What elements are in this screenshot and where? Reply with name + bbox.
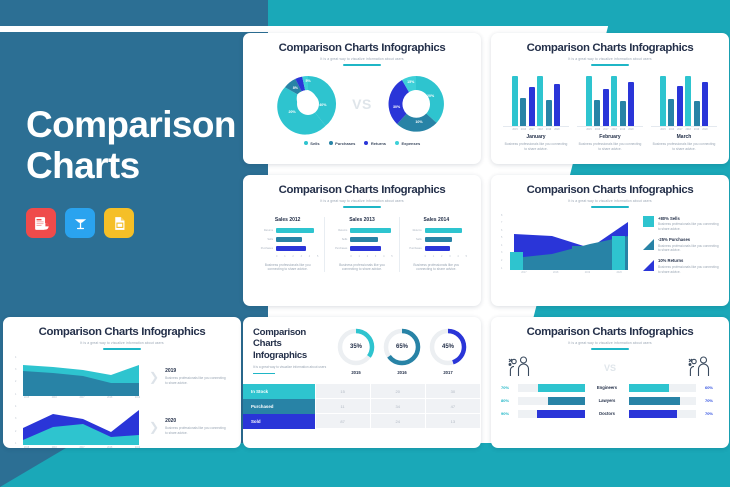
area-block-year: 2020: [165, 418, 229, 424]
bar: [603, 89, 609, 126]
area-plot: [21, 356, 143, 396]
column-title: Sales 2012: [257, 217, 318, 223]
legend-text: +80% Sells Business professionals like y…: [658, 216, 719, 232]
axis-tick-row: 0 1 2 3 4 5: [331, 255, 392, 258]
inventory-table: In Stock 15 20 30 Purchased 11 34 47 Sol…: [243, 383, 481, 429]
slide-title: Comparison Charts Infographics: [3, 326, 241, 338]
format-icon-row: [26, 208, 248, 238]
column-title: Sales 2014: [406, 217, 467, 223]
axis-tick: 2015: [24, 397, 29, 399]
hbar-row: Sells: [257, 237, 318, 243]
hbar-label: Purchases: [257, 247, 273, 250]
hbar-fill: [425, 228, 462, 234]
hbar-row: Sells: [406, 237, 467, 243]
axis-tick: 2: [15, 380, 16, 383]
progress-ring-2017: 45% 2017: [428, 327, 468, 375]
axis-tick: 8: [501, 214, 502, 217]
axis-tick: 2018: [611, 128, 617, 131]
legend-title: 10% Returns: [658, 258, 719, 263]
legend-item-sells: +80% Sells Business professionals like y…: [643, 216, 719, 232]
right-bar-fill: [629, 384, 669, 392]
ring-year: 2016: [382, 370, 422, 375]
hbar-label: Sells: [331, 238, 347, 241]
left-bar-track: [518, 410, 585, 418]
category-name: Engineers: [589, 385, 625, 390]
versus-label: VS: [352, 96, 372, 112]
bar: [660, 76, 666, 126]
legend-title: -25% Purchases: [658, 237, 719, 242]
axis-tick: 4: [457, 255, 458, 258]
slide-header: Comparison Charts Infographics It is a g…: [243, 33, 481, 66]
left-bar-fill: [548, 397, 585, 405]
donut-slice-label: 20%: [289, 110, 296, 114]
table-row[interactable]: Purchased 11 34 47: [243, 399, 481, 414]
bar-group-march: 2015 2016 2017 2018 2019 2020 March Busi…: [651, 73, 717, 152]
axis-tick: 2020: [702, 128, 708, 131]
bar: [537, 76, 543, 126]
sales-column-2012: Sales 2012 Returns Sells Purchases 0 1 2: [251, 217, 324, 273]
powerpoint-icon[interactable]: [26, 208, 56, 238]
axis-tick: 2017: [603, 128, 609, 131]
ring-year: 2017: [428, 370, 468, 375]
bar-plot: [651, 73, 717, 127]
left-percent: 90%: [501, 411, 514, 416]
bar-plot: [503, 73, 569, 127]
axis-tick: 1: [501, 267, 502, 270]
hbar-track: [276, 237, 318, 243]
axis-tick: 4: [309, 255, 310, 258]
area-block-text: 2019 Business professionals like you con…: [165, 368, 229, 386]
bar: [529, 87, 535, 126]
axis-tick: 6: [501, 229, 502, 232]
axis-tick: 3: [375, 255, 376, 258]
bar: [512, 76, 518, 126]
progress-ring-2016: 65% 2016: [382, 327, 422, 375]
hbar-fill: [276, 237, 302, 243]
legend-label: Expenses: [402, 141, 421, 146]
bar: [702, 82, 708, 125]
hbar-label: Sells: [257, 238, 273, 241]
table-cell: 11: [315, 399, 370, 414]
ring-value: 45%: [428, 344, 468, 350]
slide-subtitle: It is a great way to visualize informati…: [491, 199, 729, 203]
y-axis: 4 3 2 1: [15, 356, 16, 396]
axis-tick: 1: [15, 442, 16, 445]
axis-tick: 3: [15, 417, 16, 420]
google-slides-icon[interactable]: [104, 208, 134, 238]
legend-item: Sells: [304, 141, 320, 146]
people-row-engineers: 70% Engineers 60%: [501, 384, 719, 392]
axis-tick: 2018: [553, 271, 558, 274]
axis-tick: 2019: [135, 447, 140, 448]
axis-tick: 2017: [79, 447, 84, 448]
slide-title: Comparison Charts Infographics: [491, 326, 729, 338]
axis-tick: 0: [425, 255, 426, 258]
legend-rect-icon: [643, 216, 654, 227]
axis-tick: 2016: [52, 447, 57, 448]
bar-group-desc: Business professionals like you connecti…: [651, 142, 717, 152]
table-row[interactable]: In Stock 15 20 30: [243, 384, 481, 399]
bar: [685, 76, 691, 126]
slide-header: Comparison Charts Infographics It is a g…: [3, 317, 241, 350]
table-row-label: Purchased: [243, 399, 315, 414]
slide-header: Comparison Charts Infographics It is a g…: [491, 33, 729, 66]
background-bottom-band: [0, 443, 730, 487]
ring-value: 65%: [382, 344, 422, 350]
hero-title-line2: Charts: [26, 145, 248, 186]
left-bar-fill: [537, 410, 585, 418]
right-bar-fill: [629, 397, 680, 405]
area-block-desc: Business professionals like you connecti…: [165, 376, 229, 386]
bar: [677, 86, 683, 126]
slide-header: Comparison Charts Infographics It is a g…: [253, 327, 327, 375]
title-underline: [103, 348, 141, 350]
axis-tick: 2: [367, 255, 368, 258]
ring-holder: 45%: [428, 327, 468, 367]
hbar-row: Returns: [406, 228, 467, 234]
bar-group-title: March: [651, 134, 717, 140]
axis-tick: 4: [501, 244, 502, 247]
hbar-track: [276, 246, 318, 252]
legend-swatch-icon: [395, 141, 399, 145]
hbar-row: Returns: [257, 228, 318, 234]
people-row-doctors: 90% Doctors 70%: [501, 410, 719, 418]
axis-tick: 1: [359, 255, 360, 258]
hbar-row: Purchases: [257, 246, 318, 252]
legend-item-returns: 10% Returns Business professionals like …: [643, 258, 719, 274]
axis-tick: 1: [15, 393, 16, 396]
hbar-track: [350, 246, 392, 252]
legend-text: -25% Purchases Business professionals li…: [658, 237, 719, 253]
hero-title: Comparison Charts: [26, 104, 248, 187]
hbar-track: [425, 237, 467, 243]
legend-label: Returns: [371, 141, 386, 146]
slide-card-monthly-bars[interactable]: Comparison Charts Infographics It is a g…: [491, 33, 729, 164]
donut-chart-row: 40% 20% 8% 5% VS 20% 10% 30% 15%: [243, 72, 481, 136]
category-name: Doctors: [589, 411, 625, 416]
bar: [668, 99, 674, 126]
left-bar-fill: [538, 384, 585, 392]
slide-header: Comparison Charts Infographics It is a g…: [491, 175, 729, 208]
x-axis: 2015 2016 2017 2018 2019: [21, 447, 143, 448]
title-underline: [343, 64, 381, 66]
x-axis: 2015 2016 2017 2018 2019: [21, 397, 143, 399]
axis-tick: 2015: [24, 447, 29, 448]
bar: [628, 82, 634, 125]
progress-ring-row: 35% 2015 65% 2016: [333, 327, 471, 375]
bar: [594, 100, 600, 126]
legend-item: Purchases: [329, 141, 356, 146]
column-desc: Business professionals like you connecti…: [406, 263, 467, 273]
keynote-icon[interactable]: [65, 208, 95, 238]
title-underline: [253, 373, 275, 375]
people-row-lawyers: 80% Lawyers 70%: [501, 397, 719, 405]
rings-header-row: Comparison Charts Infographics It is a g…: [243, 317, 481, 375]
slide-title: Comparison Charts Infographics: [491, 184, 729, 196]
title-underline: [591, 206, 629, 208]
axis-tick: 4: [383, 255, 384, 258]
chevron-right-icon: ❯: [149, 371, 159, 383]
area-block-2019: 4 3 2 1 2015 2016 2017 2018 2019: [3, 356, 241, 400]
slide-subtitle: It is a great way to visualize informati…: [491, 57, 729, 61]
title-underline: [343, 206, 381, 208]
left-bar-track: [518, 397, 585, 405]
table-cell: 34: [370, 399, 425, 414]
legend-triangle-icon: [643, 237, 654, 248]
left-percent: 80%: [501, 398, 514, 403]
slide-header: Comparison Charts Infographics It is a g…: [243, 175, 481, 208]
people-group-icon-left: [507, 355, 533, 382]
axis-tick: 2019: [620, 128, 626, 131]
bar: [694, 101, 700, 126]
right-bar-fill: [629, 410, 677, 418]
bar-group-january: 2015 2016 2017 2018 2019 2020 January Bu…: [503, 73, 569, 152]
bar-group-row: 2015 2016 2017 2018 2019 2020 January Bu…: [491, 73, 729, 152]
hbar-row: Purchases: [406, 246, 467, 252]
axis-tick: 3: [301, 255, 302, 258]
legend-desc: Business professionals like you connecti…: [658, 222, 719, 232]
sales-column-row: Sales 2012 Returns Sells Purchases 0 1 2: [243, 217, 481, 273]
axis-tick: 2020: [554, 128, 560, 131]
axis-tick: 2019: [694, 128, 700, 131]
bar-group-title: February: [577, 134, 643, 140]
legend-swatch-icon: [329, 141, 333, 145]
legend-triangle-icon: [643, 258, 654, 269]
axis-tick: 2: [292, 255, 293, 258]
ring-holder: 65%: [382, 327, 422, 367]
table-cell: 13: [425, 414, 480, 429]
table-cell: 87: [315, 414, 370, 429]
bar: [586, 76, 592, 126]
axis-tick: 5: [317, 255, 318, 258]
axis-tick-row: 0 1 2 3 4 5: [406, 255, 467, 258]
axis-tick: 7: [501, 221, 502, 224]
axis-tick: 2017: [521, 271, 526, 274]
donut-slice-label: 40%: [319, 103, 326, 107]
hbar-label: Purchases: [331, 247, 347, 250]
hbar-track: [425, 228, 467, 234]
legend-desc: Business professionals like you connecti…: [658, 244, 719, 254]
bar-tick-row: 2015 2016 2017 2018 2019 2020: [503, 128, 569, 131]
axis-tick: 0: [276, 255, 277, 258]
axis-tick: 2018: [685, 128, 691, 131]
right-percent: 70%: [700, 411, 713, 416]
hbar-row: Purchases: [331, 246, 392, 252]
donut-slice-label: 20%: [427, 94, 434, 98]
axis-tick: 4: [15, 405, 16, 408]
donut-legend: Sells Purchases Returns Expenses: [243, 141, 481, 146]
slide-subtitle: It is a great way to visualize informati…: [491, 341, 729, 345]
slide-card-sales-bars[interactable]: Comparison Charts Infographics It is a g…: [243, 175, 481, 306]
hbar-row: Sells: [331, 237, 392, 243]
bar: [546, 100, 552, 126]
hbar-fill: [425, 237, 452, 243]
ring-holder: 35%: [336, 327, 376, 367]
axis-tick: 5: [501, 236, 502, 239]
area-block-text: 2020 Business professionals like you con…: [165, 418, 229, 436]
axis-tick: 2016: [668, 128, 674, 131]
x-axis: 2017 2018 2019 2020: [508, 271, 635, 274]
hbar-track: [350, 237, 392, 243]
donut-slice-label: 8%: [293, 86, 298, 90]
slide-title-line1: Comparison: [253, 327, 327, 338]
axis-tick: 2015: [660, 128, 666, 131]
legend-swatch-icon: [364, 141, 368, 145]
right-bar-track: [629, 410, 696, 418]
bar: [620, 101, 626, 125]
axis-tick: 5: [466, 255, 467, 258]
slide-title-line3: Infographics: [253, 350, 327, 361]
axis-tick-row: 0 1 2 3 4 5: [257, 255, 318, 258]
table-row-label: In Stock: [243, 384, 315, 399]
table-cell: 30: [425, 384, 480, 399]
hbar-label: Returns: [331, 229, 347, 232]
axis-tick: 2018: [107, 447, 112, 448]
legend-item: Returns: [364, 141, 386, 146]
axis-tick: 5: [391, 255, 392, 258]
hbar-fill: [350, 228, 390, 234]
left-percent: 70%: [501, 385, 514, 390]
y-axis: 8 7 6 5 4 3 2 1: [501, 214, 502, 270]
axis-tick: 2020: [628, 128, 634, 131]
donut-slice-label: 5%: [306, 79, 311, 83]
area-plot: [508, 214, 635, 270]
bar-plot: [577, 73, 643, 127]
bar-tick-row: 2015 2016 2017 2018 2019 2020: [577, 128, 643, 131]
sales-column-2013: Sales 2013 Returns Sells Purchases 0 1 2: [324, 217, 398, 273]
hbar-track: [276, 228, 318, 234]
axis-tick: 2016: [52, 397, 57, 399]
people-bar-rows: 70% Engineers 60% 80% Lawyers 70% 90% Do…: [491, 382, 729, 418]
slide-deck-preview: Comparison Charts Comparison Charts Info…: [0, 0, 730, 487]
axis-tick: 2017: [79, 397, 84, 399]
legend-text: 10% Returns Business professionals like …: [658, 258, 719, 274]
hbar-track: [425, 246, 467, 252]
slide-title: Comparison Charts Infographics: [243, 184, 481, 196]
axis-tick: 2: [441, 255, 442, 258]
axis-tick: 2019: [135, 397, 140, 399]
right-bar-track: [629, 397, 696, 405]
hbar-label: Returns: [406, 229, 422, 232]
progress-ring-2015: 35% 2015: [336, 327, 376, 375]
axis-tick: 2018: [107, 397, 112, 399]
table-cell: 24: [370, 414, 425, 429]
slide-subtitle: It is a great way to visualize informati…: [243, 57, 481, 61]
area-chart-body: 8 7 6 5 4 3 2 1: [491, 214, 729, 275]
table-cell: 20: [370, 384, 425, 399]
axis-tick: 2016: [520, 128, 526, 131]
slide-subtitle: It is a great way to visualize informati…: [243, 199, 481, 203]
axis-tick: 0: [350, 255, 351, 258]
legend-title: +80% Sells: [658, 216, 719, 221]
axis-tick: 3: [501, 251, 502, 254]
hbar-fill: [276, 246, 306, 252]
hero-panel: Comparison Charts: [0, 26, 248, 316]
donut-slice-label: 15%: [407, 80, 414, 84]
slide-title: Comparison Charts Infographics: [243, 42, 481, 54]
area-legend: +80% Sells Business professionals like y…: [643, 214, 719, 275]
area-block-year: 2019: [165, 368, 229, 374]
table-cell: 47: [425, 399, 480, 414]
hbar-fill: [350, 246, 380, 252]
right-percent: 60%: [700, 385, 713, 390]
axis-tick: 2020: [616, 271, 621, 274]
title-underline: [591, 64, 629, 66]
axis-tick: 3: [15, 368, 16, 371]
people-icon-row: VS: [491, 350, 729, 382]
axis-tick: 4: [15, 356, 16, 359]
hbar-label: Sells: [406, 238, 422, 241]
donut-slice-label: 10%: [415, 120, 422, 124]
column-title: Sales 2013: [331, 217, 392, 223]
slide-card-donut-comparison[interactable]: Comparison Charts Infographics It is a g…: [243, 33, 481, 164]
axis-tick: 2019: [585, 271, 590, 274]
left-bar-track: [518, 384, 585, 392]
area-plot: [21, 405, 143, 445]
slide-card-people-comparison[interactable]: Comparison Charts Infographics It is a g…: [491, 317, 729, 448]
hbar-label: Purchases: [406, 247, 422, 250]
ring-value: 35%: [336, 344, 376, 350]
hbar-label: Returns: [257, 229, 273, 232]
y-axis: 4 3 2 1: [15, 405, 16, 445]
donut-slice-label: 30%: [393, 105, 400, 109]
ring-year: 2015: [336, 370, 376, 375]
slide-title: Comparison Charts Infographics: [253, 327, 327, 361]
axis-tick: 2017: [529, 128, 535, 131]
axis-tick: 1: [284, 255, 285, 258]
legend-label: Sells: [310, 141, 319, 146]
legend-desc: Business professionals like you connecti…: [658, 265, 719, 275]
area-chart: 8 7 6 5 4 3 2 1: [501, 214, 635, 275]
hbar-track: [350, 228, 392, 234]
hbar-fill: [276, 228, 314, 234]
axis-tick: 2019: [546, 128, 552, 131]
slide-header: Comparison Charts Infographics It is a g…: [491, 317, 729, 350]
hero-title-line1: Comparison: [26, 104, 248, 145]
axis-tick: 2: [15, 430, 16, 433]
bar-group-title: January: [503, 134, 569, 140]
hbar-fill: [350, 237, 378, 243]
slide-card-stacked-areas[interactable]: Comparison Charts Infographics It is a g…: [3, 317, 241, 448]
slide-title: Comparison Charts Infographics: [491, 42, 729, 54]
slide-subtitle: It is a great way to visualize informati…: [3, 341, 241, 345]
legend-swatch-icon: [304, 141, 308, 145]
table-cell: 15: [315, 384, 370, 399]
area-chart: 4 3 2 1 2015 2016 2017 2018 2019: [15, 356, 143, 400]
axis-tick: 2: [501, 259, 502, 262]
legend-item-purchases: -25% Purchases Business professionals li…: [643, 237, 719, 253]
bar-group-february: 2015 2016 2017 2018 2019 2020 February B…: [577, 73, 643, 152]
donut-chart-left: 40% 20% 8% 5%: [276, 72, 340, 136]
versus-label: VS: [604, 363, 616, 373]
bar: [611, 76, 617, 126]
slide-subtitle: It is a great way to visualize informati…: [253, 365, 327, 370]
category-name: Lawyers: [589, 398, 625, 403]
slide-card-area-legend[interactable]: Comparison Charts Infographics It is a g…: [491, 175, 729, 306]
bar-group-desc: Business professionals like you connecti…: [577, 142, 643, 152]
hbar-row: Returns: [331, 228, 392, 234]
axis-tick: 2018: [537, 128, 543, 131]
sales-column-2014: Sales 2014 Returns Sells Purchases 0 1 2: [399, 217, 473, 273]
table-row[interactable]: Sold 87 24 13: [243, 414, 481, 429]
right-percent: 70%: [700, 398, 713, 403]
table-row-label: Sold: [243, 414, 315, 429]
slide-card-rings-table[interactable]: Comparison Charts Infographics It is a g…: [243, 317, 481, 448]
axis-tick: 2017: [677, 128, 683, 131]
area-chart: 4 3 2 1 2015 2016 2017 2018 2019: [15, 405, 143, 448]
right-bar-track: [629, 384, 696, 392]
axis-tick: 2016: [594, 128, 600, 131]
